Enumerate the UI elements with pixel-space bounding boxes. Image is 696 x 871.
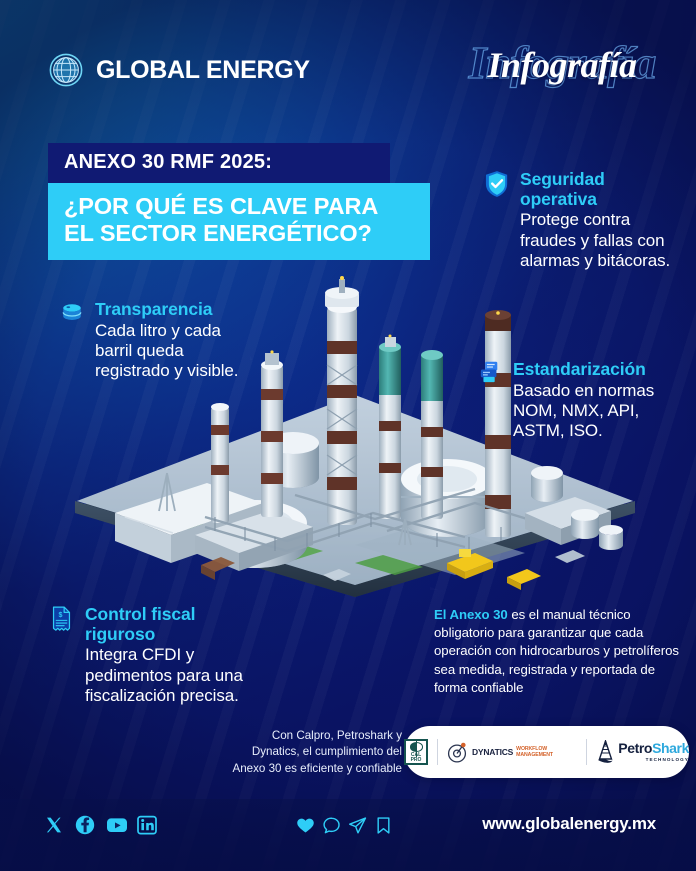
calpro-mark-icon: CAL PRO bbox=[404, 739, 428, 765]
engagement-icons bbox=[296, 816, 393, 835]
petroshark-name-a: Petro bbox=[618, 740, 652, 756]
callout-body: Basado en normas NOM, NMX, API, ASTM, IS… bbox=[513, 381, 693, 442]
partner-logo-dynatics[interactable]: DYNATICS WORKFLOW MANAGEMENT bbox=[447, 732, 577, 772]
dynatics-tagline: WORKFLOW MANAGEMENT bbox=[516, 746, 577, 758]
callout-heading: Estandarización bbox=[513, 360, 693, 380]
send-icon[interactable] bbox=[348, 816, 367, 835]
petroshark-derrick-icon bbox=[596, 740, 615, 764]
oil-barrel-icon bbox=[60, 300, 86, 330]
invoice-icon: $ bbox=[50, 605, 76, 635]
callout-control-fiscal: $ Control fiscal riguroso Integra CFDI y… bbox=[50, 605, 260, 706]
dynatics-mark-icon bbox=[447, 742, 468, 763]
facebook-icon[interactable] bbox=[75, 815, 95, 835]
documents-icon bbox=[478, 360, 504, 390]
partner-logo-calpro[interactable]: CAL PRO bbox=[404, 732, 428, 772]
callout-heading: Transparencia bbox=[95, 300, 260, 320]
callout-body: Integra CFDI y pedimentos para una fisca… bbox=[85, 645, 260, 706]
brand-logo[interactable]: GLOBAL ENERGY bbox=[48, 52, 310, 88]
callout-text: Transparencia Cada litro y cada barril q… bbox=[95, 300, 260, 382]
section-label-group: Infografía Infografía bbox=[462, 38, 662, 94]
title-block: ANEXO 30 RMF 2025: ¿POR QUÉ ES CLAVE PAR… bbox=[48, 143, 430, 260]
callout-body: Protege contra fraudes y fallas con alar… bbox=[520, 210, 685, 271]
callout-body: Cada litro y cada barril queda registrad… bbox=[95, 321, 260, 382]
title-main: ¿POR QUÉ ES CLAVE PARA EL SECTOR ENERGÉT… bbox=[48, 183, 430, 260]
anexo30-highlight: El Anexo 30 bbox=[434, 607, 508, 622]
partners-note: Con Calpro, Petroshark y Dynatics, el cu… bbox=[222, 728, 402, 777]
petroshark-tagline: TECHNOLOGY bbox=[618, 758, 689, 763]
title-main-line2: EL SECTOR ENERGÉTICO? bbox=[64, 220, 372, 246]
svg-text:$: $ bbox=[58, 612, 62, 619]
callout-text: Control fiscal riguroso Integra CFDI y p… bbox=[85, 605, 260, 706]
title-kicker: ANEXO 30 RMF 2025: bbox=[48, 143, 390, 183]
callout-seguridad-operativa: Seguridad operativa Protege contra fraud… bbox=[485, 170, 685, 271]
logo-divider bbox=[586, 739, 587, 765]
heart-icon[interactable] bbox=[296, 816, 315, 835]
globe-icon bbox=[48, 52, 84, 88]
anexo30-description: El Anexo 30 es el manual técnico obligat… bbox=[434, 606, 686, 697]
dynatics-name: DYNATICS bbox=[472, 747, 513, 757]
linkedin-icon[interactable] bbox=[137, 815, 157, 835]
infographic-poster: GLOBAL ENERGY Infografía Infografía bbox=[0, 0, 696, 871]
x-icon[interactable] bbox=[44, 815, 64, 835]
shield-check-icon bbox=[485, 170, 511, 200]
petroshark-name-b: Shark bbox=[652, 740, 689, 756]
title-main-line1: ¿POR QUÉ ES CLAVE PARA bbox=[64, 193, 378, 219]
social-links bbox=[44, 815, 157, 835]
logo-divider bbox=[437, 739, 438, 765]
website-url[interactable]: www.globalenergy.mx bbox=[482, 814, 656, 834]
callout-estandarizacion: Estandarización Basado en normas NOM, NM… bbox=[478, 360, 693, 442]
footer: www.globalenergy.mx bbox=[0, 799, 696, 871]
header: GLOBAL ENERGY Infografía Infografía bbox=[0, 0, 696, 128]
partners-logo-card: CAL PRO DYNATICS WORKFLOW MANAGEMENT bbox=[404, 726, 689, 778]
callout-text: Estandarización Basado en normas NOM, NM… bbox=[513, 360, 693, 442]
partner-logo-petroshark[interactable]: PetroShark TECHNOLOGY bbox=[596, 732, 689, 772]
brand-name: GLOBAL ENERGY bbox=[96, 56, 310, 85]
youtube-icon[interactable] bbox=[106, 815, 126, 835]
callout-heading: Seguridad operativa bbox=[520, 170, 685, 209]
callout-transparencia: Transparencia Cada litro y cada barril q… bbox=[60, 300, 260, 382]
bookmark-icon[interactable] bbox=[374, 816, 393, 835]
section-label: Infografía bbox=[462, 44, 662, 86]
callout-heading: Control fiscal riguroso bbox=[85, 605, 260, 644]
comment-icon[interactable] bbox=[322, 816, 341, 835]
petroshark-wordmark: PetroShark TECHNOLOGY bbox=[618, 741, 689, 763]
callout-text: Seguridad operativa Protege contra fraud… bbox=[520, 170, 685, 271]
